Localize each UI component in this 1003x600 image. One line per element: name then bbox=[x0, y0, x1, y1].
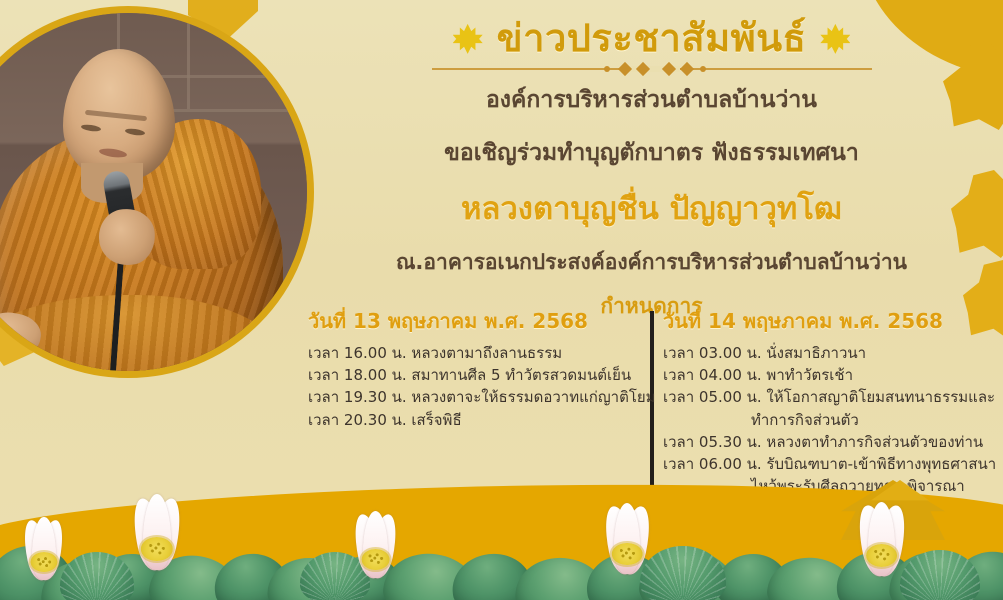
lotus-flower bbox=[92, 477, 222, 570]
schedule-item-text: เวลา 04.00 น. พาทำวัตรเช้า bbox=[663, 366, 853, 384]
day2-heading: วันที่ 14 พฤษภาคม พ.ศ. 2568 bbox=[663, 305, 1003, 337]
schedule-item-text: เวลา 16.00 น. หลวงตามาถึงลานธรรม bbox=[308, 344, 562, 362]
monk-name: หลวงตาบุญชื่น ปัญญาวุทโฒ bbox=[300, 183, 1003, 233]
schedule-item: เวลา 03.00 น. นั่งสมาธิภาวนา bbox=[663, 342, 1003, 364]
schedule-item-continuation: ทำการกิจส่วนตัว bbox=[663, 409, 1003, 431]
schedule-item: เวลา 16.00 น. หลวงตามาถึงลานธรรม bbox=[308, 342, 645, 364]
day1-heading: วันที่ 13 พฤษภาคม พ.ศ. 2568 bbox=[308, 305, 645, 337]
schedule-item-text: เวลา 19.30 น. หลวงตาจะให้ธรรมดอวาทแก่ญาต… bbox=[308, 388, 656, 406]
quatrefoil-icon-right bbox=[820, 24, 850, 54]
schedule-item: เวลา 05.30 น. หลวงตาทำภารกิจส่วนตัวของท่… bbox=[663, 431, 1003, 453]
lotus-seed-pod bbox=[866, 544, 898, 567]
lotus-decoration bbox=[0, 470, 1003, 600]
schedule-item-text: เวลา 05.00 น. ให้โอกาสญาติโยมสนทนาธรรมแล… bbox=[663, 388, 995, 406]
title-divider-ornament bbox=[432, 62, 872, 76]
lotus-seed-pod bbox=[31, 552, 58, 572]
schedule-item: เวลา 18.00 น. สมาทานศีล 5 ทำวัตรสวดมนต์เ… bbox=[308, 364, 645, 386]
poster-header: ข่าวประชาสัมพันธ์ องค์การบริหารส่วนตำบลบ… bbox=[300, 18, 1003, 323]
invitation-line: ขอเชิญร่วมทำบุญตักบาตร ฟังธรรมเทศนา bbox=[300, 135, 1003, 171]
schedule-item-text: เวลา 05.30 น. หลวงตาทำภารกิจส่วนตัวของท่… bbox=[663, 433, 983, 451]
venue-line: ณ.อาคารอเนกประสงค์องค์การบริหารส่วนตำบลบ… bbox=[300, 246, 1003, 279]
lotus-flower bbox=[818, 485, 945, 576]
schedule-item: เวลา 04.00 น. พาทำวัตรเช้า bbox=[663, 364, 1003, 386]
schedule-item-text: เวลา 18.00 น. สมาทานศีล 5 ทำวัตรสวดมนต์เ… bbox=[308, 366, 631, 384]
page-title: ข่าวประชาสัมพันธ์ bbox=[497, 18, 807, 60]
schedule-item-text: เวลา 03.00 น. นั่งสมาธิภาวนา bbox=[663, 344, 866, 362]
schedule-item-text: เวลา 20.30 น. เสร็จพิธี bbox=[308, 411, 462, 429]
lotus-flower bbox=[566, 486, 688, 574]
monk-portrait bbox=[0, 6, 314, 378]
lotus-flower bbox=[0, 503, 98, 580]
lotus-seed-pod bbox=[141, 537, 173, 561]
schedule-item: เวลา 20.30 น. เสร็จพิธี bbox=[308, 409, 645, 431]
quatrefoil-icon-left bbox=[453, 24, 483, 54]
monk-photo-image bbox=[0, 13, 307, 371]
lotus-flower bbox=[318, 495, 433, 578]
organization-name: องค์การบริหารส่วนตำบลบ้านว่าน bbox=[300, 82, 1003, 118]
announcement-poster: ข่าวประชาสัมพันธ์ องค์การบริหารส่วนตำบลบ… bbox=[0, 0, 1003, 600]
schedule-item: เวลา 19.30 น. หลวงตาจะให้ธรรมดอวาทแก่ญาต… bbox=[308, 386, 645, 408]
title-row: ข่าวประชาสัมพันธ์ bbox=[300, 18, 1003, 60]
lotus-seed-pod bbox=[361, 549, 390, 570]
schedule-item: เวลา 05.00 น. ให้โอกาสญาติโยมสนทนาธรรมแล… bbox=[663, 386, 1003, 430]
lotus-seed-pod bbox=[612, 543, 643, 565]
